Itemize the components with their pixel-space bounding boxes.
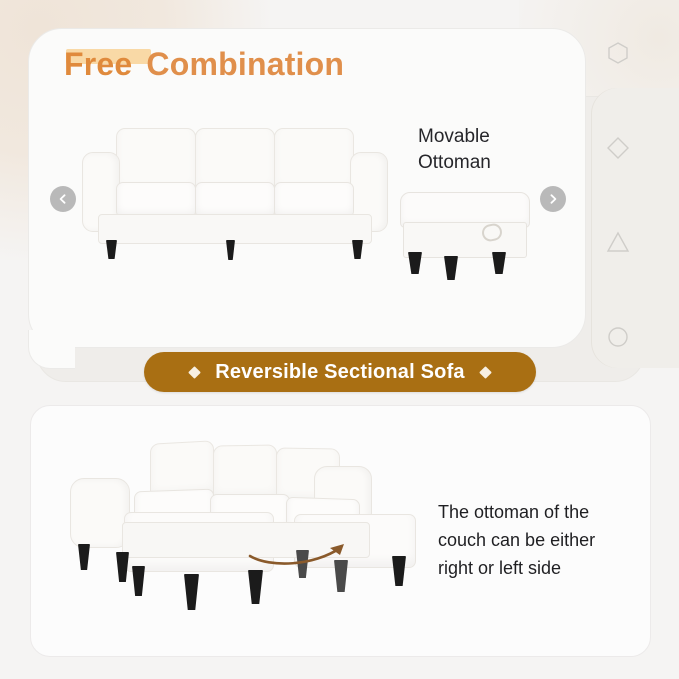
- caption-line-1: The ottoman of the: [438, 498, 595, 526]
- carousel-next-button[interactable]: [540, 186, 566, 212]
- diamond-icon: [605, 135, 631, 161]
- movable-ottoman-line2: Ottoman: [418, 150, 491, 176]
- three-seat-sofa-image: [78, 126, 398, 266]
- hexagon-icon: [605, 40, 631, 66]
- circle-icon: [605, 324, 631, 350]
- reversible-direction-arrow-icon: [248, 538, 356, 570]
- banner-diamond-left-icon: [188, 366, 201, 379]
- icon-rail-items: [598, 40, 638, 350]
- page-title: FreeCombination: [64, 46, 344, 83]
- movable-ottoman-label: Movable Ottoman: [418, 124, 491, 176]
- product-image-root: FreeCombination Movable Ottoman: [0, 0, 679, 679]
- carousel-prev-button[interactable]: [50, 186, 76, 212]
- caption-line-2: couch can be either: [438, 526, 595, 554]
- sectional-sofa-image: [62, 440, 422, 625]
- reversible-caption: The ottoman of the couch can be either r…: [438, 498, 595, 582]
- storage-ottoman-image: [396, 192, 532, 278]
- caption-line-3: right or left side: [438, 554, 595, 582]
- triangle-icon: [605, 229, 631, 255]
- product-name-banner: Reversible Sectional Sofa: [144, 352, 536, 392]
- movable-ottoman-line1: Movable: [418, 124, 491, 150]
- title-word-free: Free: [64, 46, 132, 82]
- banner-label: Reversible Sectional Sofa: [215, 361, 465, 384]
- banner-diamond-right-icon: [479, 366, 492, 379]
- title-word-combination: Combination: [146, 46, 344, 82]
- card-notch: [28, 330, 75, 369]
